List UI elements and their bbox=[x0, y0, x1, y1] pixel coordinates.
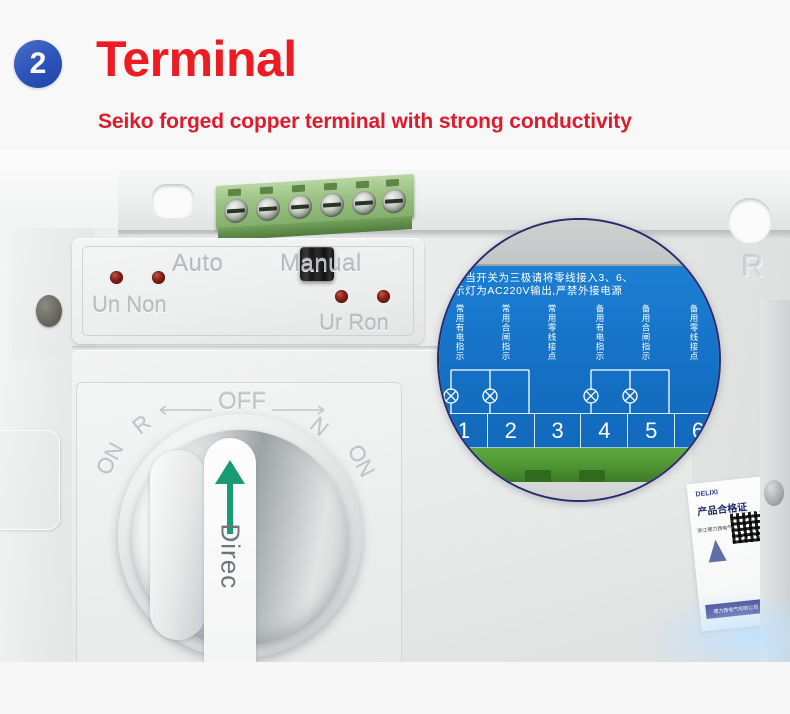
terminal-pin bbox=[386, 179, 399, 187]
terminal-pin bbox=[324, 183, 337, 191]
r-top-marking: R bbox=[742, 250, 764, 284]
wiring-note-line1: 注：当开关为三极请将零线接入3、6、 bbox=[443, 272, 721, 285]
page-subtitle: Seiko forged copper terminal with strong… bbox=[98, 110, 632, 134]
wiring-col-label: 常用有电指示 bbox=[453, 304, 465, 361]
arc-label-on-right: ON bbox=[341, 440, 379, 481]
terminal-pin bbox=[260, 187, 273, 195]
arc-arrow-left-icon bbox=[152, 404, 214, 416]
led-label-right: Ur Ron bbox=[319, 310, 389, 336]
arc-arrow-right-icon bbox=[270, 404, 332, 416]
direction-label: Direc bbox=[204, 438, 256, 662]
page-title: Terminal bbox=[96, 34, 297, 84]
led-indicator-ur bbox=[335, 290, 348, 303]
qc-logo-icon bbox=[706, 539, 726, 563]
control-panel: Auto Manual Un Non Ur Ron bbox=[72, 238, 424, 344]
wiring-col-label: 备用零线接点 bbox=[687, 304, 699, 361]
led-label-left: Un Non bbox=[92, 292, 167, 318]
led-indicator-un bbox=[110, 271, 123, 284]
wiring-diagram-label: 注：当开关为三极请将零线接入3、6、 指示灯为AC220V输出,严禁外接电源 常… bbox=[437, 266, 721, 448]
terminal-pin bbox=[292, 185, 305, 193]
led-indicator-ron bbox=[377, 290, 390, 303]
header: 2 Terminal Seiko forged copper terminal … bbox=[0, 0, 790, 152]
terminal-number: 2 bbox=[487, 414, 534, 448]
terminal-pin bbox=[356, 181, 369, 189]
green-strip-tab bbox=[579, 470, 605, 482]
product-photo: Auto Manual Un Non Ur Ron ON R OFF N ON bbox=[0, 150, 790, 662]
green-strip-tab bbox=[525, 470, 551, 482]
terminal-number-row: 1 2 3 4 5 6 bbox=[441, 414, 721, 448]
magnifier-device-top bbox=[439, 220, 719, 266]
magnifier-callout: 注：当开关为三极请将零线接入3、6、 指示灯为AC220V输出,严禁外接电源 常… bbox=[437, 218, 721, 502]
left-side-port bbox=[36, 295, 62, 327]
auto-label: Auto bbox=[172, 250, 223, 278]
wiring-note-line2: 指示灯为AC220V输出,严禁外接电源 bbox=[443, 285, 721, 298]
qr-code-icon bbox=[730, 511, 763, 544]
terminal-number: 5 bbox=[627, 414, 674, 448]
qc-subtitle-text: 浙江德力西电气 bbox=[697, 524, 733, 535]
magnified-green-terminal-strip bbox=[439, 448, 719, 482]
wiring-col-label: 备用合闸指示 bbox=[639, 304, 651, 361]
wiring-schematic-icon bbox=[441, 366, 721, 414]
arc-label-on-left: ON bbox=[91, 438, 129, 479]
terminal-pin bbox=[228, 189, 241, 197]
product-feature-image: 2 Terminal Seiko forged copper terminal … bbox=[0, 0, 790, 714]
wiring-column-labels: 常用有电指示 常用合闸指示 常用零线接点 备用有电指示 备用合闸指示 备用零线接… bbox=[443, 304, 719, 362]
wiring-col-label: 备用有电指示 bbox=[593, 304, 605, 361]
direction-arrow-icon bbox=[215, 460, 245, 484]
mounting-hole-right bbox=[728, 198, 772, 242]
right-side-screw bbox=[764, 480, 784, 506]
terminal-number: 4 bbox=[580, 414, 627, 448]
direction-text: Direc bbox=[215, 524, 246, 644]
led-indicator-non bbox=[152, 271, 165, 284]
arc-label-off: OFF bbox=[218, 388, 266, 416]
terminal-number: 6 bbox=[674, 414, 721, 448]
mounting-hole-left bbox=[152, 184, 194, 217]
wiring-col-label: 常用零线接点 bbox=[545, 304, 557, 361]
rotary-knob-grip[interactable] bbox=[150, 450, 206, 640]
wiring-note: 注：当开关为三极请将零线接入3、6、 指示灯为AC220V输出,严禁外接电源 bbox=[443, 272, 721, 298]
terminal-number: 3 bbox=[534, 414, 581, 448]
photo-highlight-glow bbox=[640, 590, 790, 662]
left-lower-panel bbox=[0, 430, 60, 530]
terminal-number: 1 bbox=[441, 414, 487, 448]
step-number-badge: 2 bbox=[14, 40, 62, 88]
manual-label: Manual bbox=[280, 250, 362, 278]
magnifier-device-bottom bbox=[439, 482, 719, 502]
wiring-col-label: 常用合闸指示 bbox=[499, 304, 511, 361]
